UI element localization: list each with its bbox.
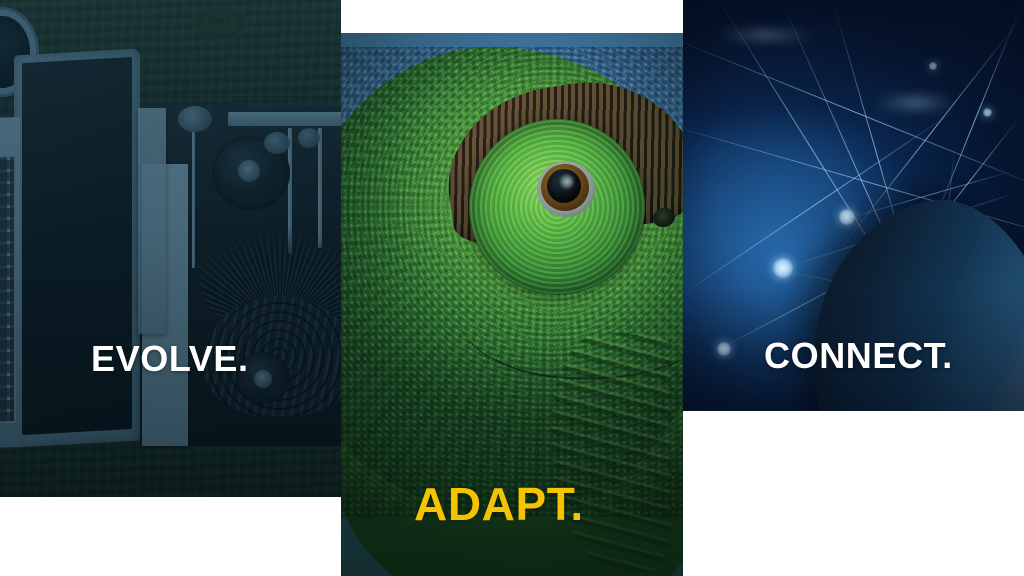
caption-adapt: ADAPT. <box>414 481 584 527</box>
teal-color-overlay-tint <box>0 0 341 497</box>
caption-evolve: EVOLVE. <box>91 341 249 377</box>
slide-canvas: EVOLVE. ADAPT. <box>0 0 1024 576</box>
caption-connect: CONNECT. <box>764 338 953 374</box>
panel-adapt[interactable]: ADAPT. <box>341 33 683 576</box>
panel-connect[interactable]: CONNECT. <box>683 0 1024 411</box>
panel-evolve[interactable]: EVOLVE. <box>0 0 341 497</box>
